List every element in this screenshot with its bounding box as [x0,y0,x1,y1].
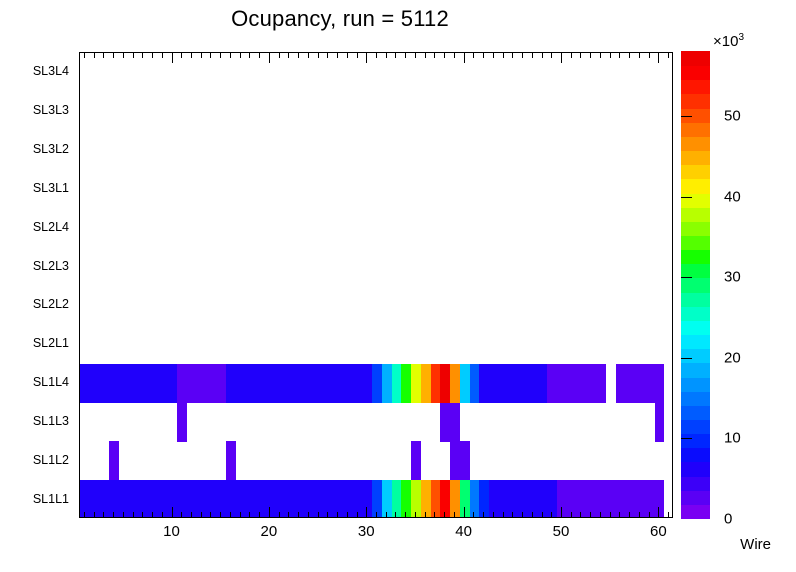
x-axis-minor-tick [629,512,630,518]
heatmap-cell [440,364,450,403]
x-axis-minor-tick [113,512,114,518]
x-axis-minor-tick [571,512,572,518]
x-axis-minor-tick [298,512,299,518]
x-axis-major-tick [172,507,173,518]
x-axis-minor-tick [580,512,581,518]
colorbar-segment [681,292,710,307]
x-axis-minor-tick [308,512,309,518]
colorbar-tick [681,197,692,198]
colorbar-segment [681,221,710,236]
x-axis-minor-tick [395,512,396,518]
x-axis-tick-label: 30 [358,523,375,540]
colorbar-tick-label: 30 [724,269,741,286]
colorbar-segment [681,108,710,123]
x-axis-top-tick [542,52,543,58]
x-axis-major-tick [561,507,562,518]
x-axis-minor-tick [210,512,211,518]
colorbar-segment [681,334,710,349]
x-axis-minor-tick [454,512,455,518]
x-axis-top-tick [288,52,289,58]
heatmap-cell [411,480,421,518]
x-axis-top-tick [318,52,319,58]
x-axis-top-tick [230,52,231,58]
x-axis-top-tick [551,52,552,58]
x-axis-top-tick [308,52,309,58]
colorbar-exponent-base: ×10 [713,33,738,50]
colorbar-segment [681,207,710,222]
plot-frame [79,52,673,518]
x-axis-top-tick [649,52,650,58]
heatmap-cell [177,403,187,442]
x-axis-minor-tick [123,512,124,518]
heatmap-cell [411,441,421,480]
x-axis-minor-tick [649,512,650,518]
x-axis-minor-tick [327,512,328,518]
x-axis-minor-tick [279,512,280,518]
x-axis-major-tick [269,507,270,518]
heatmap-cell [372,364,382,403]
colorbar-segment [681,278,710,293]
x-axis-top-tick [249,52,250,58]
heatmap-cell [382,364,392,403]
colorbar-segment [681,150,710,165]
x-axis-top-tick [279,52,280,58]
heatmap-cell [479,364,547,403]
heatmap-cell [226,364,372,403]
x-axis-tick-label: 10 [163,523,180,540]
colorbar-segment [681,504,710,519]
x-axis-top-tick [434,52,435,58]
x-axis-top-tick [259,52,260,58]
x-axis-minor-tick [240,512,241,518]
x-axis-top-tick [561,52,562,63]
x-axis-minor-tick [376,512,377,518]
x-axis-top-tick [444,52,445,58]
x-axis-top-tick [512,52,513,58]
colorbar-tick-label: 40 [724,188,741,205]
x-axis-minor-tick [425,512,426,518]
x-axis-minor-tick [181,512,182,518]
x-axis-minor-tick [415,512,416,518]
x-axis-minor-tick [434,512,435,518]
heatmap-cell [421,364,431,403]
heatmap-cell [655,403,665,442]
x-axis-minor-tick [103,512,104,518]
x-axis-minor-tick [639,512,640,518]
x-axis-title: Wire [740,536,771,553]
x-axis-top-tick [298,52,299,58]
colorbar-segment [681,66,710,81]
x-axis-top-tick [493,52,494,58]
colorbar-segment [681,405,710,420]
heatmap-cell [470,364,480,403]
x-axis-top-tick [580,52,581,58]
colorbar-segment [681,377,710,392]
x-axis-minor-tick [542,512,543,518]
x-axis-minor-tick [357,512,358,518]
x-axis-minor-tick [386,512,387,518]
x-axis-minor-tick [532,512,533,518]
x-axis-minor-tick [249,512,250,518]
colorbar-tick-label: 10 [724,430,741,447]
x-axis-top-tick [181,52,182,58]
heatmap-cell [431,364,441,403]
x-axis-top-tick [610,52,611,58]
colorbar-segment [681,391,710,406]
x-axis-top-tick [532,52,533,58]
x-axis-minor-tick [444,512,445,518]
heatmap-cell [401,364,411,403]
x-axis-top-tick [347,52,348,58]
colorbar [681,52,710,519]
colorbar-segment [681,476,710,491]
x-axis-top-tick [600,52,601,58]
x-axis-tick-label: 40 [455,523,472,540]
colorbar-segment [681,94,710,109]
x-axis-top-tick [454,52,455,58]
x-axis-minor-tick [162,512,163,518]
colorbar-exponent-power: 3 [738,32,744,43]
x-axis-top-tick [503,52,504,58]
x-axis-top-tick [84,52,85,58]
x-axis-minor-tick [288,512,289,518]
x-axis-minor-tick [220,512,221,518]
colorbar-segment [681,179,710,194]
colorbar-exponent: ×103 [713,32,744,50]
heatmap-cell [80,364,177,403]
colorbar-segment [681,363,710,378]
heatmap-cell [450,480,460,518]
colorbar-segment [681,165,710,180]
x-axis-top-tick [619,52,620,58]
x-axis-minor-tick [347,512,348,518]
root-canvas: Ocupancy, run = 5112 SL3L4SL3L3SL3L2SL3L… [0,0,796,572]
x-axis-top-tick [201,52,202,58]
heatmap-cell [401,480,411,518]
x-axis-top-tick [522,52,523,58]
colorbar-segment [681,250,710,265]
x-axis-top-tick [240,52,241,58]
heatmap-cell [226,441,236,480]
x-axis-top-tick [415,52,416,58]
x-axis-top-tick [152,52,153,58]
heatmap-cell [177,364,226,403]
colorbar-segment [681,193,710,208]
colorbar-segment [681,122,710,137]
colorbar-segment [681,306,710,321]
colorbar-tick [681,277,692,278]
colorbar-tick [681,438,692,439]
x-axis-top-tick [464,52,465,63]
x-axis-tick-label: 60 [650,523,667,540]
x-axis-minor-tick [619,512,620,518]
x-axis-top-tick [327,52,328,58]
x-axis-minor-tick [668,512,669,518]
x-axis-top-tick [162,52,163,58]
x-axis-minor-tick [337,512,338,518]
colorbar-tick [681,358,692,359]
heatmap-cell [460,364,470,403]
heatmap-plot-area [80,53,672,517]
x-axis-minor-tick [600,512,601,518]
x-axis-top-tick [639,52,640,58]
x-axis-minor-tick [133,512,134,518]
x-axis-top-tick [113,52,114,58]
x-axis-top-tick [123,52,124,58]
heatmap-cell [450,364,460,403]
x-axis-minor-tick [259,512,260,518]
heatmap-cell [392,364,402,403]
colorbar-segment [681,462,710,477]
x-axis-minor-tick [590,512,591,518]
x-axis-top-tick [376,52,377,58]
colorbar-tick-label: 0 [724,511,732,528]
x-axis-top-tick [590,52,591,58]
x-axis-minor-tick [142,512,143,518]
colorbar-segment [681,264,710,279]
x-axis-minor-tick [522,512,523,518]
x-axis-top-tick [571,52,572,58]
x-axis-minor-tick [483,512,484,518]
heatmap-cell [109,441,119,480]
x-axis-minor-tick [551,512,552,518]
x-axis-minor-tick [610,512,611,518]
x-axis-top-tick [629,52,630,58]
x-axis-top-tick [191,52,192,58]
x-axis-top-tick [668,52,669,58]
colorbar-segment [681,136,710,151]
x-axis-major-tick [464,507,465,518]
heatmap-cell [547,364,605,403]
x-axis-minor-tick [512,512,513,518]
colorbar-segment [681,349,710,364]
x-axis-top-tick [103,52,104,58]
x-axis-top-tick [142,52,143,58]
x-axis-top-tick [220,52,221,58]
x-axis-minor-tick [84,512,85,518]
heatmap-cell [411,364,421,403]
x-axis-top-tick [337,52,338,58]
heatmap-cell [440,403,459,442]
x-axis-top-tick [172,52,173,63]
x-axis-top-tick [425,52,426,58]
x-axis-top-tick [473,52,474,58]
colorbar-segment [681,235,710,250]
colorbar-segment [681,490,710,505]
x-axis-minor-tick [493,512,494,518]
heatmap-cell [460,480,470,518]
x-axis-top-tick [357,52,358,58]
x-axis-top-tick [366,52,367,63]
colorbar-segment [681,80,710,95]
colorbar-segment [681,51,710,66]
colorbar-tick-label: 50 [724,108,741,125]
colorbar-segment [681,434,710,449]
x-axis-top-tick [94,52,95,58]
x-axis-top-tick [395,52,396,58]
heatmap-cell [450,441,469,480]
x-axis-minor-tick [191,512,192,518]
colorbar-tick-label: 20 [724,349,741,366]
colorbar-segment [681,419,710,434]
colorbar-segment [681,448,710,463]
x-axis-major-tick [658,507,659,518]
x-axis-minor-tick [405,512,406,518]
x-axis-minor-tick [230,512,231,518]
x-axis-tick-label: 20 [261,523,278,540]
colorbar-tick [681,116,692,117]
x-axis-minor-tick [318,512,319,518]
colorbar-segment [681,320,710,335]
x-axis-top-tick [386,52,387,58]
x-axis-minor-tick [503,512,504,518]
x-axis-top-tick [658,52,659,63]
x-axis-top-tick [483,52,484,58]
heatmap-cell [80,480,372,518]
heatmap-cell [616,364,665,403]
x-axis-minor-tick [473,512,474,518]
x-axis-major-tick [366,507,367,518]
x-axis-minor-tick [152,512,153,518]
x-axis-top-tick [210,52,211,58]
x-axis-top-tick [269,52,270,63]
x-axis-minor-tick [201,512,202,518]
x-axis-top-tick [405,52,406,58]
x-axis-minor-tick [94,512,95,518]
x-axis-top-tick [133,52,134,58]
x-axis-tick-label: 50 [553,523,570,540]
